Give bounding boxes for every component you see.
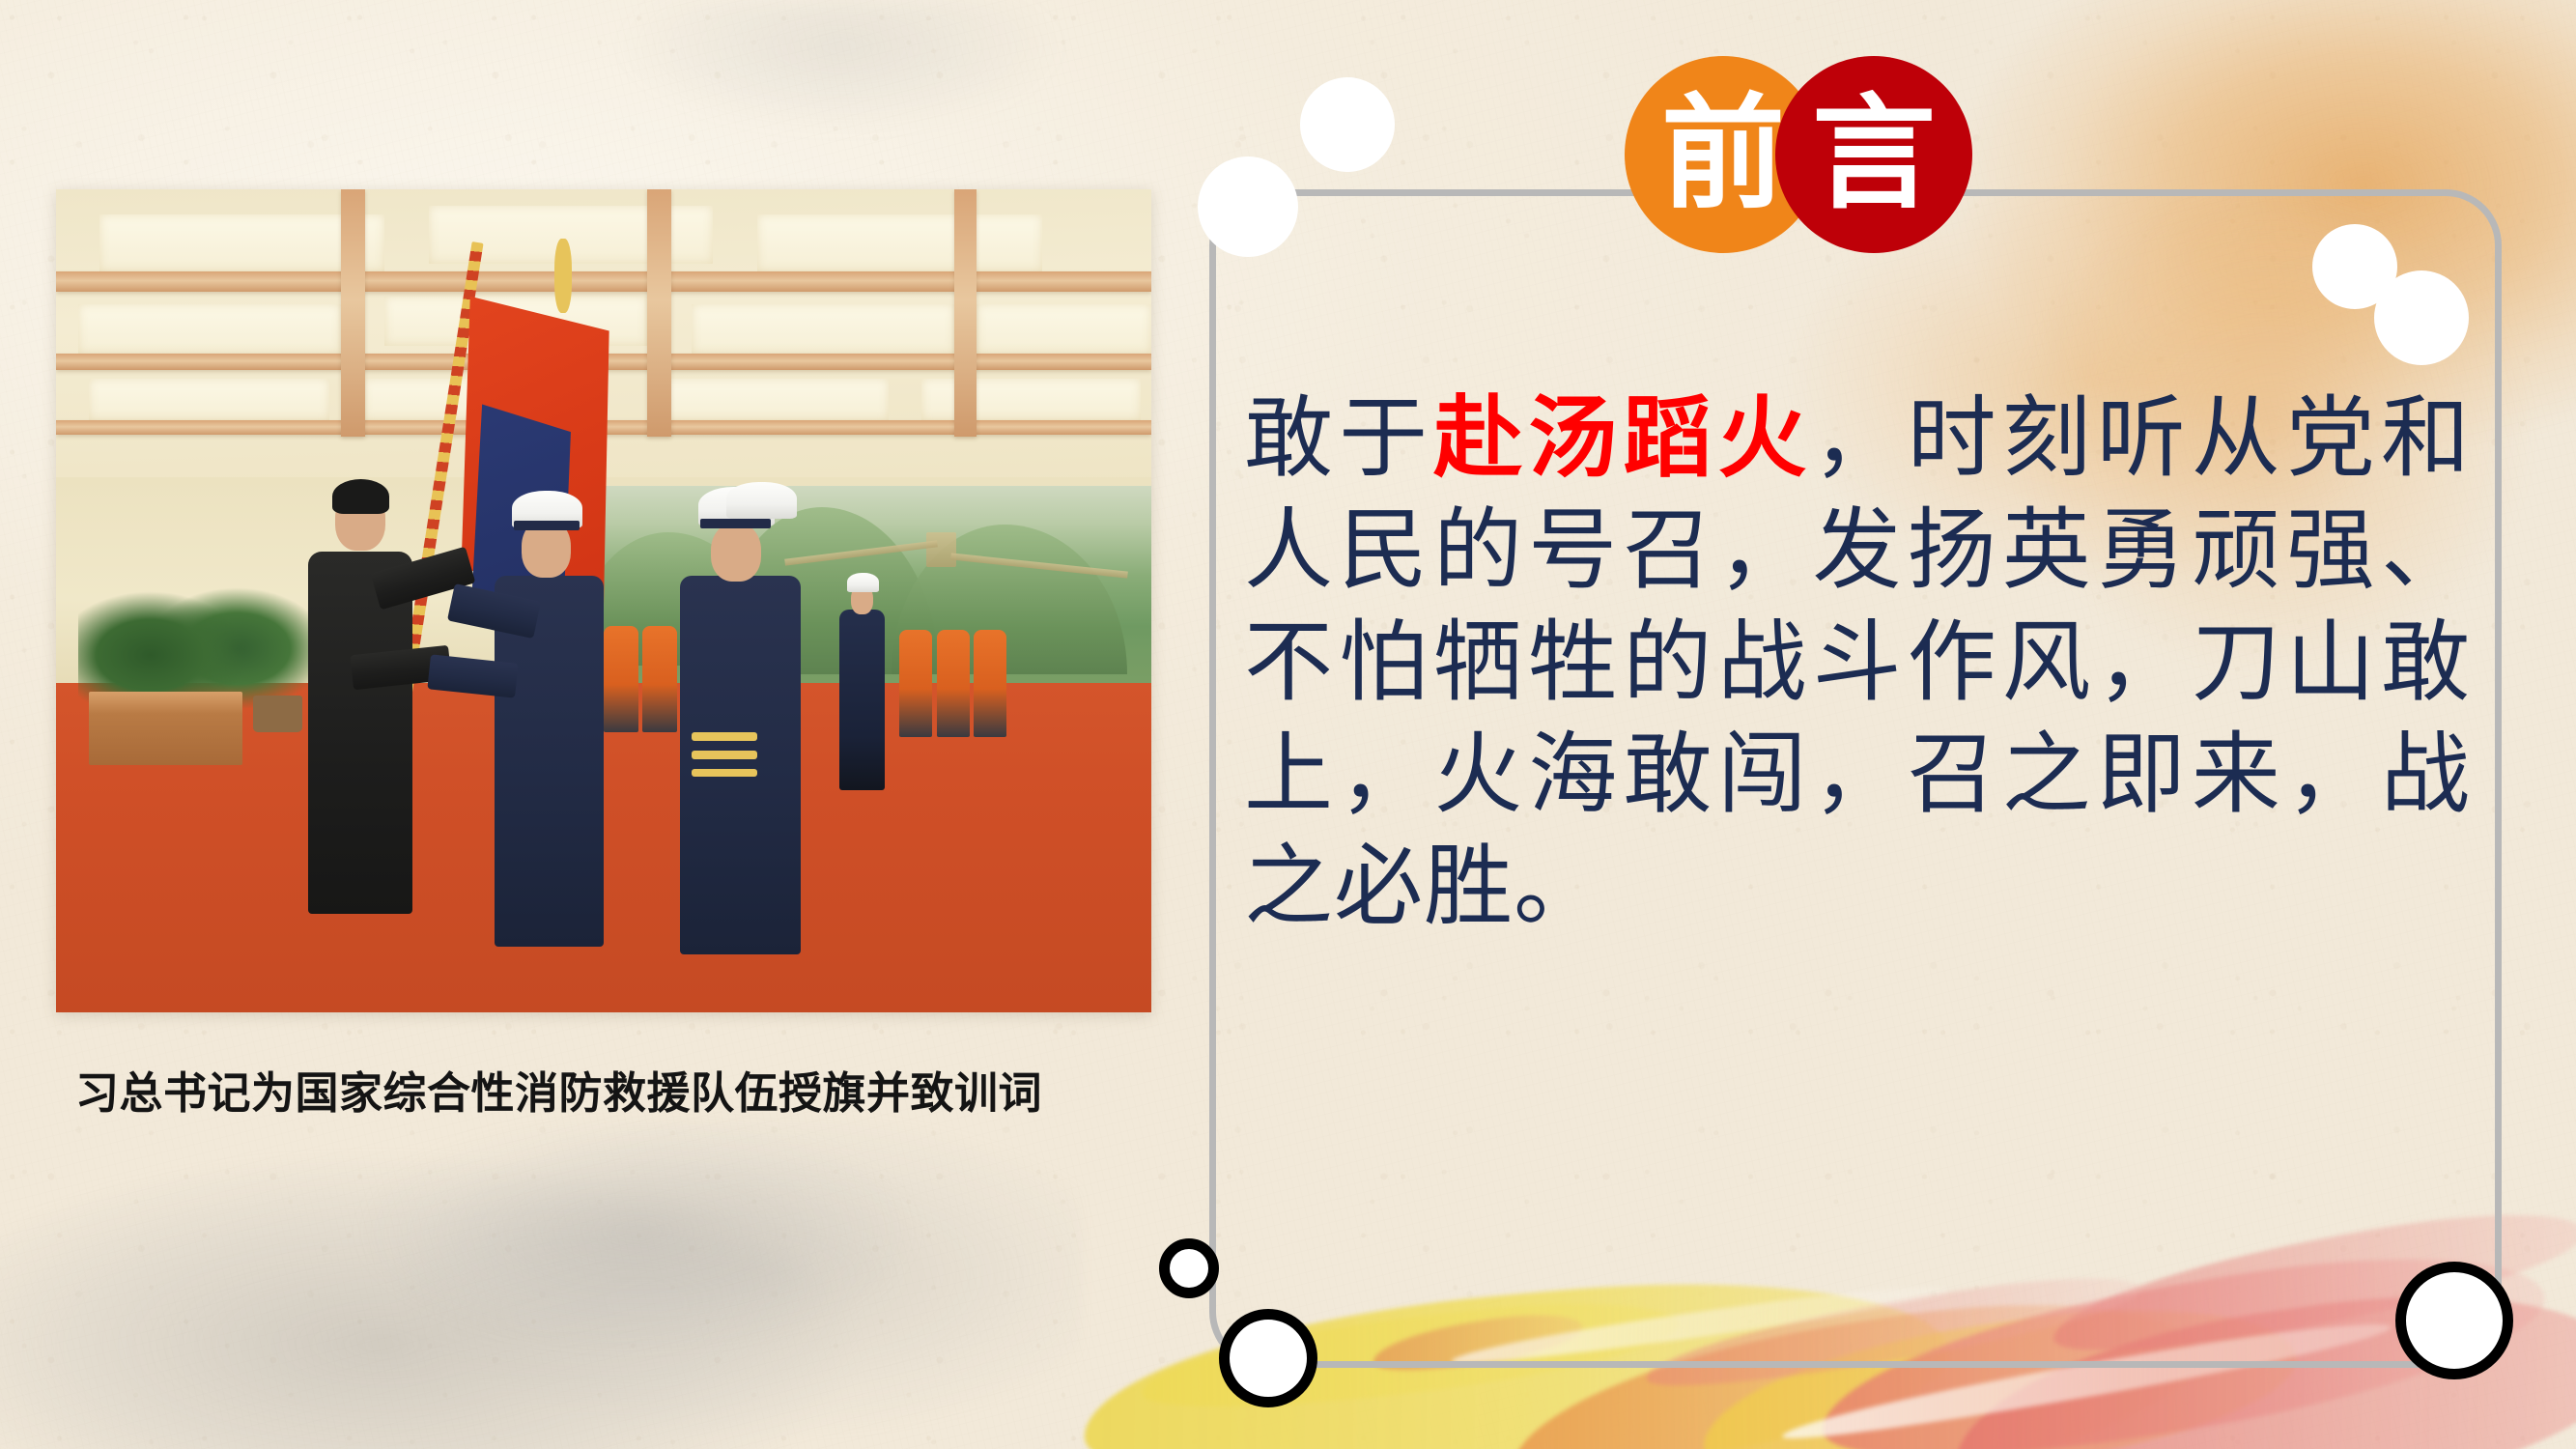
- photo-leader-hair: [332, 479, 389, 514]
- photo-officer-sleeve-stripe: [692, 732, 757, 741]
- photo-ceiling-beam: [647, 189, 671, 437]
- photo-flag-tassel: [554, 239, 572, 313]
- decor-dot-solid-top-left-b: [1198, 156, 1298, 257]
- photo-rescuer: [974, 630, 1006, 737]
- photo-leader-body: [308, 552, 412, 914]
- photo-ceiling-panel: [647, 379, 888, 420]
- decor-dot-outline-bottom-right: [2395, 1262, 2513, 1379]
- photo-ceiling-beam: [56, 271, 1151, 291]
- badge-circle-red: 言: [1775, 56, 1972, 253]
- photo-ceiling-panel: [977, 304, 1151, 354]
- ceremony-photo: [56, 189, 1151, 1012]
- quote-text: 敢于赴汤蹈火，时刻听从党和人民的号召，发扬英勇顽强、不怕牺牲的战斗作风，刀山敢上…: [1244, 383, 2471, 943]
- quote-part-1: 敢于: [1244, 386, 1433, 490]
- decor-dot-outline-bottom-left-a: [1159, 1238, 1219, 1298]
- slide-root: 习总书记为国家综合性消防救援队伍授旗并致训词 敢于赴汤蹈火，时刻听从党和人民的号…: [0, 0, 2576, 1449]
- photo-officer-sleeve-stripe: [692, 751, 757, 759]
- photo-ceiling-panel: [692, 304, 954, 354]
- photo-caption: 习总书记为国家综合性消防救援队伍授旗并致训词: [75, 1058, 1147, 1121]
- photo-mural-tower: [926, 532, 956, 566]
- photo-rescuer: [604, 626, 638, 733]
- section-title-badge: 前 言: [1625, 56, 1972, 269]
- photo-ceiling-beam: [954, 189, 977, 437]
- photo-plants: [78, 576, 319, 707]
- photo-ceiling-panel: [757, 214, 1042, 272]
- photo-ceiling-beam: [341, 189, 365, 437]
- photo-rescuer: [937, 630, 970, 737]
- photo-officer-cap-band: [514, 521, 580, 530]
- photo-officer-cap: [726, 482, 797, 518]
- decor-dot-solid-top-right-b: [2374, 270, 2469, 365]
- photo-officer-body: [680, 576, 801, 954]
- photo-rescuer: [899, 630, 932, 737]
- quote-highlight: 赴汤蹈火: [1433, 386, 1812, 490]
- decor-dot-solid-top-left-a: [1300, 77, 1395, 172]
- photo-guard-cap: [847, 573, 879, 592]
- photo-ceiling-panel: [89, 379, 329, 420]
- photo-plant-pot: [253, 696, 302, 732]
- photo-officer-sleeve-stripe: [692, 769, 757, 778]
- photo-rescuer: [642, 626, 677, 733]
- photo-officer-head: [711, 523, 761, 582]
- photo-desk: [89, 692, 242, 766]
- photo-officer-cap-band: [700, 519, 772, 528]
- decor-dot-outline-bottom-left-b: [1219, 1309, 1317, 1407]
- photo-guard: [839, 610, 886, 790]
- ceremony-photo-image: [56, 189, 1151, 1012]
- photo-ceiling-panel: [78, 304, 341, 354]
